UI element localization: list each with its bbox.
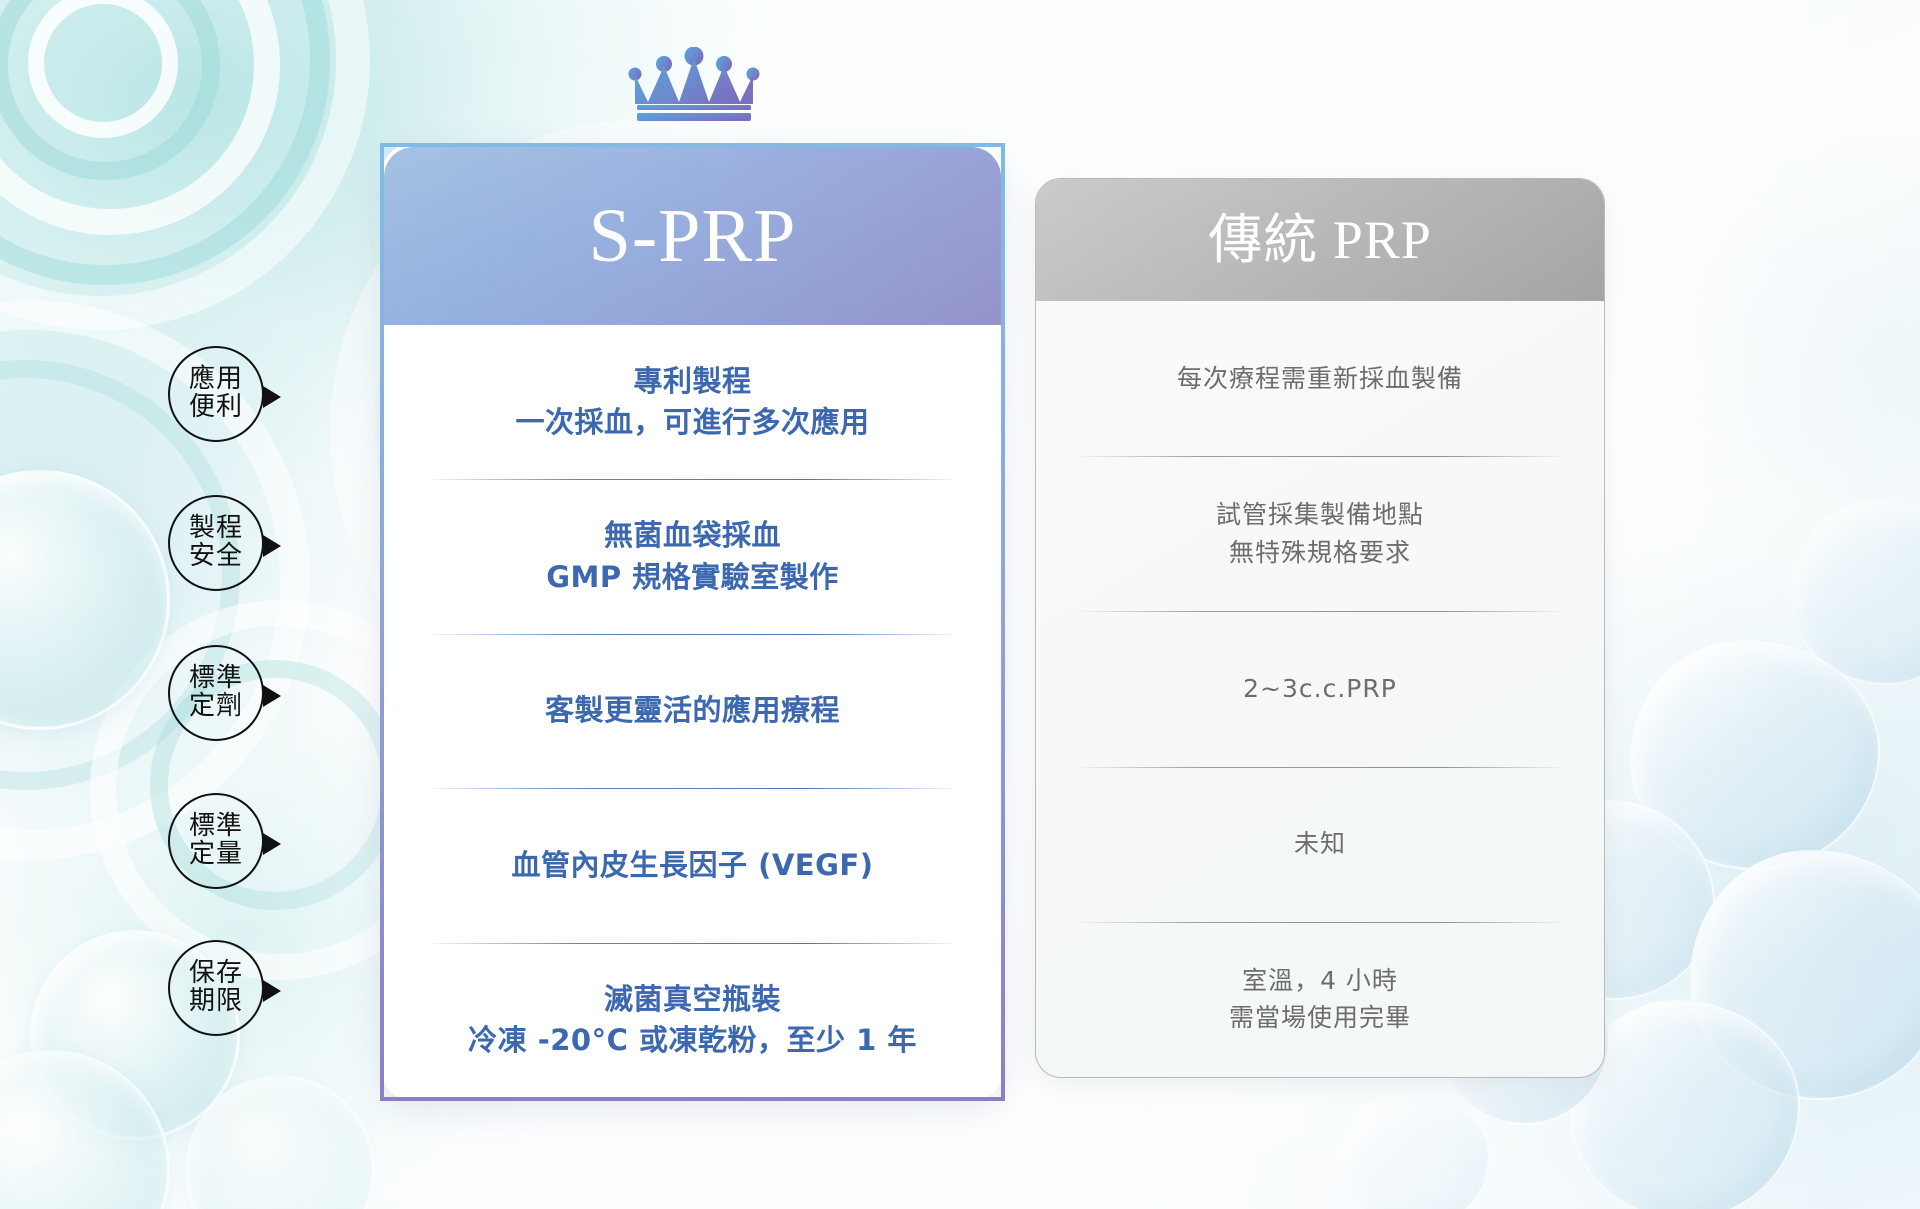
- category-chip-standard-quantity[interactable]: 標準 定量: [168, 793, 264, 889]
- prp-row-process-safety: 試管採集製備地點 無特殊規格要求: [1036, 456, 1604, 611]
- category-chip-line1: 製程: [189, 515, 243, 543]
- arrow-right-icon: [263, 980, 281, 1002]
- card-s-prp-body: 專利製程 一次採血，可進行多次應用 無菌血袋採血 GMP 規格實驗室製作 客製更…: [384, 325, 1001, 1097]
- arrow-right-icon: [263, 386, 281, 408]
- card-s-prp: S-PRP 專利製程 一次採血，可進行多次應用 無菌血袋採血 GMP 規格實驗室…: [380, 143, 1005, 1101]
- category-chip-line1: 標準: [189, 665, 243, 693]
- s-prp-row-line1: 無菌血袋採血: [604, 515, 781, 556]
- prp-row-line1: 試管採集製備地點: [1216, 496, 1424, 534]
- prp-row-line2: 需當場使用完畢: [1229, 999, 1411, 1037]
- s-prp-row-line1: 滅菌真空瓶裝: [604, 979, 781, 1020]
- s-prp-row-line2: GMP 規格實驗室製作: [546, 557, 839, 598]
- category-chip-line2: 定量: [189, 841, 243, 869]
- card-traditional-prp-title: 傳統 PRP: [1208, 213, 1432, 267]
- prp-row-standard-dosing: 2~3c.c.PRP: [1036, 611, 1604, 766]
- category-chip-process-safety[interactable]: 製程 安全: [168, 495, 264, 591]
- prp-row-line2: 無特殊規格要求: [1229, 534, 1411, 572]
- s-prp-row-line2: 一次採血，可進行多次應用: [515, 402, 869, 443]
- card-traditional-prp-header: 傳統 PRP: [1036, 179, 1604, 301]
- prp-row-shelf-life: 室溫，4 小時 需當場使用完畢: [1036, 922, 1604, 1077]
- category-chip-line2: 定劑: [189, 693, 243, 721]
- s-prp-row-process-safety: 無菌血袋採血 GMP 規格實驗室製作: [384, 479, 1001, 633]
- s-prp-row-shelf-life: 滅菌真空瓶裝 冷凍 -20°C 或凍乾粉，至少 1 年: [384, 943, 1001, 1097]
- s-prp-row-line1: 血管內皮生長因子 (VEGF): [512, 845, 874, 886]
- category-chip-standard-dosing[interactable]: 標準 定劑: [168, 645, 264, 741]
- prp-row-standard-quantity: 未知: [1036, 767, 1604, 922]
- prp-row-line1: 每次療程需重新採血製備: [1177, 360, 1463, 398]
- arrow-right-icon: [263, 535, 281, 557]
- category-chip-line2: 期限: [189, 988, 243, 1016]
- card-s-prp-title: S-PRP: [589, 198, 797, 274]
- category-chip-line1: 標準: [189, 813, 243, 841]
- infographic-stage: 應用 便利 製程 安全 標準 定劑 標準 定量 保存 期限: [0, 0, 1920, 1209]
- prp-row-line1: 室溫，4 小時: [1242, 962, 1398, 1000]
- prp-row-line1: 2~3c.c.PRP: [1243, 670, 1397, 708]
- s-prp-row-line2: 冷凍 -20°C 或凍乾粉，至少 1 年: [468, 1020, 917, 1061]
- prp-row-line1: 未知: [1294, 825, 1346, 863]
- card-traditional-prp-body: 每次療程需重新採血製備 試管採集製備地點 無特殊規格要求 2~3c.c.PRP …: [1036, 301, 1604, 1077]
- category-rail: 應用 便利 製程 安全 標準 定劑 標準 定量 保存 期限: [168, 0, 358, 1209]
- s-prp-row-application-convenience: 專利製程 一次採血，可進行多次應用: [384, 325, 1001, 479]
- s-prp-row-standard-dosing: 客製更靈活的應用療程: [384, 634, 1001, 788]
- category-chip-shelf-life[interactable]: 保存 期限: [168, 940, 264, 1036]
- crown-icon: [628, 47, 760, 125]
- arrow-right-icon: [263, 685, 281, 707]
- s-prp-row-line1: 客製更靈活的應用療程: [545, 690, 840, 731]
- s-prp-row-line1: 專利製程: [633, 361, 751, 402]
- card-s-prp-header: S-PRP: [384, 147, 1001, 325]
- card-traditional-prp: 傳統 PRP 每次療程需重新採血製備 試管採集製備地點 無特殊規格要求 2~3c…: [1035, 178, 1605, 1078]
- category-chip-line1: 應用: [189, 366, 243, 394]
- prp-row-application-convenience: 每次療程需重新採血製備: [1036, 301, 1604, 456]
- category-chip-line2: 便利: [189, 394, 243, 422]
- category-chip-application-convenience[interactable]: 應用 便利: [168, 346, 264, 442]
- s-prp-row-standard-quantity: 血管內皮生長因子 (VEGF): [384, 788, 1001, 942]
- arrow-right-icon: [263, 833, 281, 855]
- category-chip-line1: 保存: [189, 960, 243, 988]
- category-chip-line2: 安全: [189, 543, 243, 571]
